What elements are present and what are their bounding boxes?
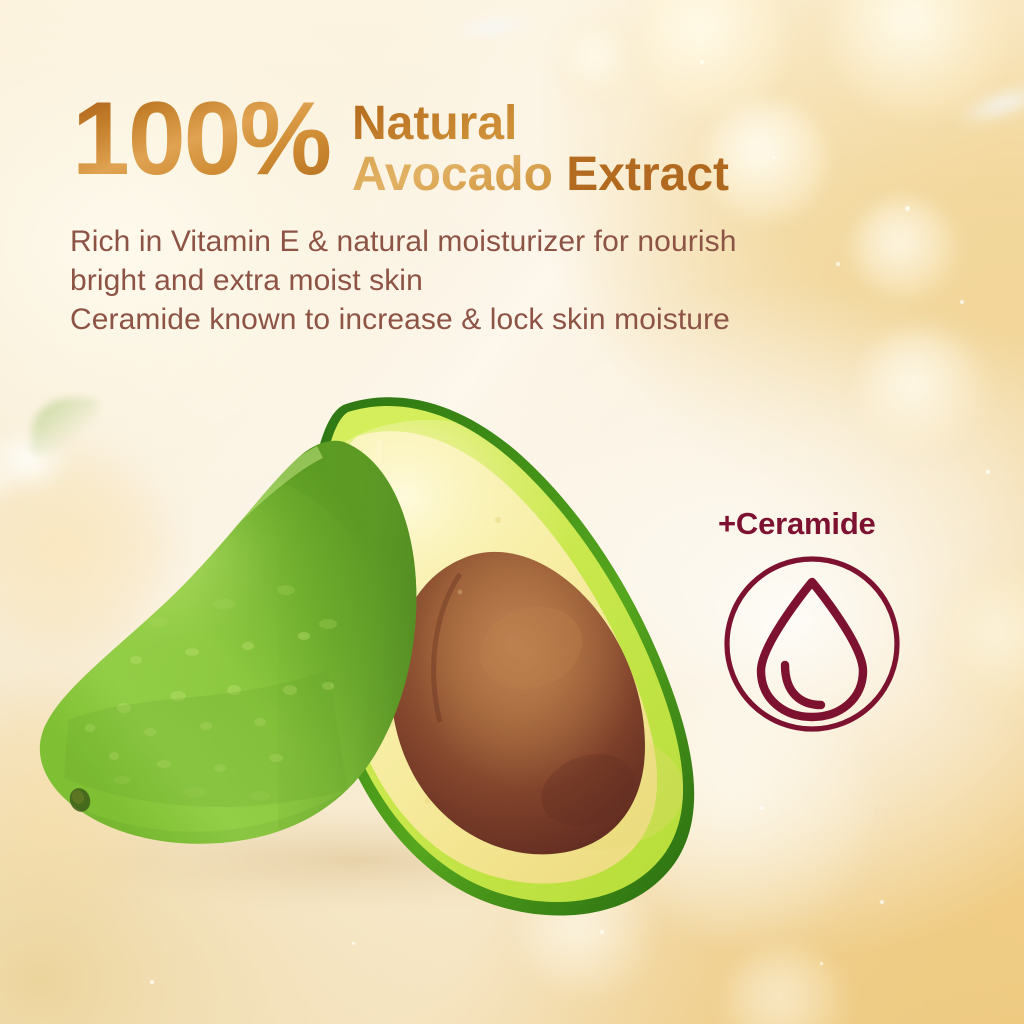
- headline-lines: Natural Avocado Extract: [352, 92, 729, 199]
- dust-particle: [820, 962, 823, 965]
- headline-line-natural: Natural: [352, 100, 729, 148]
- headline-word-extract: [553, 148, 566, 201]
- ceramide-badge: +Ceramide: [714, 508, 914, 733]
- body-copy-line-3: Ceramide known to increase & lock skin m…: [70, 300, 950, 339]
- headline: 100% Natural Avocado Extract: [72, 92, 729, 199]
- water-droplet-icon: [723, 555, 901, 733]
- dust-particle: [772, 156, 775, 159]
- body-copy-line-1: Rich in Vitamin E & natural moisturizer …: [70, 222, 950, 261]
- body-copy-line-2: bright and extra moist skin: [70, 261, 950, 300]
- dust-particle: [880, 900, 884, 904]
- avocado-extract-poster: 100% Natural Avocado Extract Rich in Vit…: [0, 0, 1024, 1024]
- dust-particle: [986, 470, 990, 474]
- ceramide-label: +Ceramide: [718, 508, 914, 539]
- dust-particle: [960, 300, 964, 304]
- dust-particle: [760, 806, 764, 810]
- headline-word-avocado: Avocado: [352, 148, 553, 201]
- dust-particle: [700, 60, 704, 64]
- body-copy: Rich in Vitamin E & natural moisturizer …: [70, 222, 950, 339]
- headline-line-avocado-extract: Avocado Extract: [352, 151, 729, 199]
- avocado-illustration: [28, 360, 748, 940]
- dust-particle: [352, 942, 355, 945]
- droplet-outline: [761, 582, 863, 717]
- headline-word-extract-text: Extract: [566, 148, 729, 201]
- dust-particle: [150, 980, 154, 984]
- droplet-inner-arc: [785, 665, 821, 705]
- pit-speck: [458, 590, 463, 595]
- percent-value: 100%: [72, 92, 330, 188]
- flesh-speck: [495, 517, 501, 523]
- dust-particle: [905, 206, 910, 211]
